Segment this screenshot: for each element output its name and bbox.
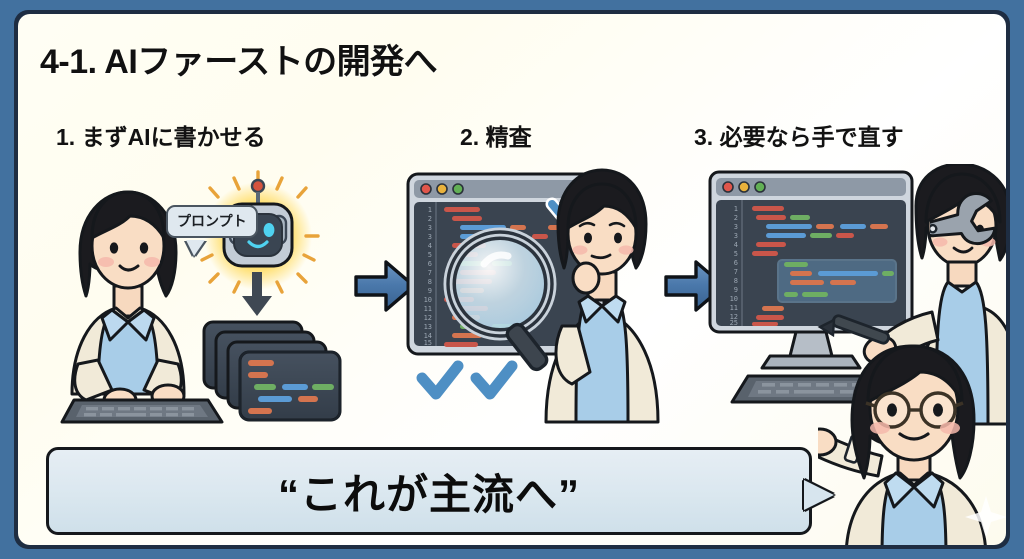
svg-text:7: 7 <box>734 268 738 276</box>
svg-text:2: 2 <box>428 215 432 223</box>
code-card-stack <box>204 322 340 420</box>
presenter-figure <box>818 344 1006 545</box>
slide-card: 4-1. AIファーストの開発へ 1. まずAIに書かせる 2. 精査 3. 必… <box>18 14 1006 545</box>
svg-text:3: 3 <box>734 223 738 231</box>
svg-text:4: 4 <box>428 242 432 250</box>
step-3-heading: 3. 必要なら手で直す <box>694 118 904 152</box>
slide-root: 4-1. AIファーストの開発へ 1. まずAIに書かせる 2. 精査 3. 必… <box>0 0 1024 559</box>
svg-text:4: 4 <box>734 241 738 249</box>
svg-text:9: 9 <box>734 286 738 294</box>
svg-text:12: 12 <box>424 314 432 322</box>
svg-text:3: 3 <box>428 224 432 232</box>
svg-text:10: 10 <box>424 296 432 304</box>
pointing-hand <box>818 429 836 455</box>
svg-text:1: 1 <box>428 206 432 214</box>
svg-text:5: 5 <box>734 250 738 258</box>
svg-text:8: 8 <box>734 277 738 285</box>
svg-text:6: 6 <box>428 260 432 268</box>
banner-text: “これが主流へ” <box>278 461 580 522</box>
panel-1-illustration <box>48 164 348 429</box>
svg-text:5: 5 <box>428 251 432 259</box>
svg-text:25: 25 <box>730 319 738 327</box>
svg-text:3: 3 <box>734 232 738 240</box>
svg-text:7: 7 <box>428 269 432 277</box>
svg-text:6: 6 <box>734 259 738 267</box>
svg-text:8: 8 <box>428 278 432 286</box>
prompt-bubble-tail <box>186 240 205 256</box>
window-dot-close <box>723 182 733 192</box>
window-dot-minimize <box>739 182 749 192</box>
step-1-heading: 1. まずAIに書かせる <box>56 118 266 152</box>
panel-2-illustration: 123 345 678 91011 121314 15 <box>400 164 670 429</box>
wrench-icon <box>930 186 1002 258</box>
window-dot-maximize <box>755 182 765 192</box>
prompt-bubble-text: プロンプト <box>177 213 247 229</box>
svg-text:1: 1 <box>734 205 738 213</box>
window-dot-minimize <box>437 184 447 194</box>
highlight-banner: “これが主流へ” <box>46 447 812 535</box>
step-2-heading: 2. 精査 <box>460 118 532 152</box>
svg-text:11: 11 <box>424 305 432 313</box>
window-dot-maximize <box>453 184 463 194</box>
page-title: 4-1. AIファーストの開発へ <box>40 34 437 83</box>
svg-text:15: 15 <box>424 339 432 347</box>
svg-text:2: 2 <box>734 214 738 222</box>
window-dot-close <box>421 184 431 194</box>
check-icon-1 <box>422 366 458 394</box>
svg-text:13: 13 <box>424 323 432 331</box>
check-icon-2 <box>476 366 512 394</box>
svg-text:9: 9 <box>428 287 432 295</box>
keyboard <box>62 400 222 422</box>
prompt-speech-bubble: プロンプト <box>166 205 258 238</box>
svg-text:3: 3 <box>428 233 432 241</box>
svg-text:10: 10 <box>730 295 738 303</box>
svg-text:11: 11 <box>730 304 738 312</box>
